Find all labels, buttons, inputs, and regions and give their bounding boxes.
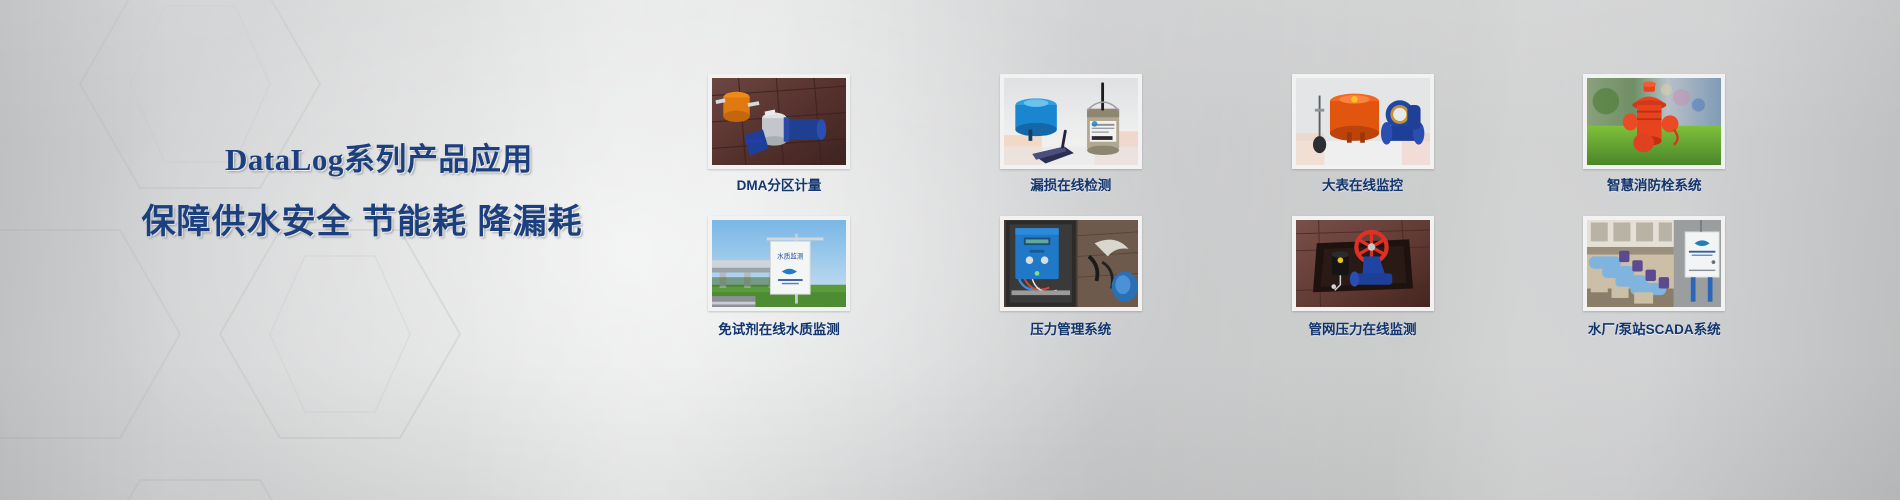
- headline-block: DataLog系列产品应用 保障供水安全 节能耗 降漏耗: [0, 140, 700, 244]
- product-caption: 压力管理系统: [1000, 322, 1142, 338]
- blue-pressure-controller-cabinet-photo: [1004, 220, 1138, 307]
- product-thumbnail[interactable]: [1583, 74, 1725, 169]
- headline-line-2: 保障供水安全 节能耗 降漏耗: [24, 200, 700, 244]
- product-caption: 漏损在线检测: [1000, 178, 1142, 194]
- hexagon-watermark-icon: [0, 0, 480, 500]
- product-caption: 管网压力在线监测: [1292, 322, 1434, 338]
- product-grid: DMA分区计量: [708, 74, 1858, 338]
- product-thumbnail[interactable]: [1292, 216, 1434, 311]
- product-thumbnail[interactable]: [1000, 74, 1142, 169]
- leak-detection-logger-photo: [1004, 78, 1138, 165]
- product-thumbnail[interactable]: [708, 74, 850, 169]
- product-caption: 免试剂在线水质监测: [708, 322, 850, 338]
- product-card[interactable]: DMA分区计量: [708, 74, 850, 194]
- pump-station-scada-panel-photo: [1587, 220, 1721, 307]
- product-card[interactable]: 漏损在线检测: [1000, 74, 1142, 194]
- product-card[interactable]: 压力管理系统: [1000, 216, 1142, 338]
- headline-line-1: DataLog系列产品应用: [58, 140, 700, 180]
- pipe-network-valve-chamber-photo: [1296, 220, 1430, 307]
- product-thumbnail[interactable]: [1583, 216, 1725, 311]
- dma-flow-meter-pit-photo: [712, 78, 846, 165]
- product-card[interactable]: 水厂/泵站SCADA系统: [1583, 216, 1725, 338]
- product-card[interactable]: 水质监测 免试剂在线水质监测: [708, 216, 850, 338]
- water-quality-monitoring-station-photo: 水质监测: [712, 220, 846, 307]
- product-card[interactable]: 管网压力在线监测: [1292, 216, 1434, 338]
- svg-text:水质监测: 水质监测: [777, 251, 804, 260]
- product-thumbnail[interactable]: [1292, 74, 1434, 169]
- product-application-banner: DataLog系列产品应用 保障供水安全 节能耗 降漏耗: [0, 0, 1900, 500]
- large-meter-orange-cover-photo: [1296, 78, 1430, 165]
- product-caption: 智慧消防栓系统: [1583, 178, 1725, 194]
- product-caption: 水厂/泵站SCADA系统: [1583, 322, 1725, 338]
- product-thumbnail[interactable]: 水质监测: [708, 216, 850, 311]
- product-caption: 大表在线监控: [1292, 178, 1434, 194]
- product-caption: DMA分区计量: [708, 178, 850, 194]
- red-fire-hydrant-photo: [1587, 78, 1721, 165]
- product-card[interactable]: 智慧消防栓系统: [1583, 74, 1725, 194]
- product-thumbnail[interactable]: [1000, 216, 1142, 311]
- product-card[interactable]: 大表在线监控: [1292, 74, 1434, 194]
